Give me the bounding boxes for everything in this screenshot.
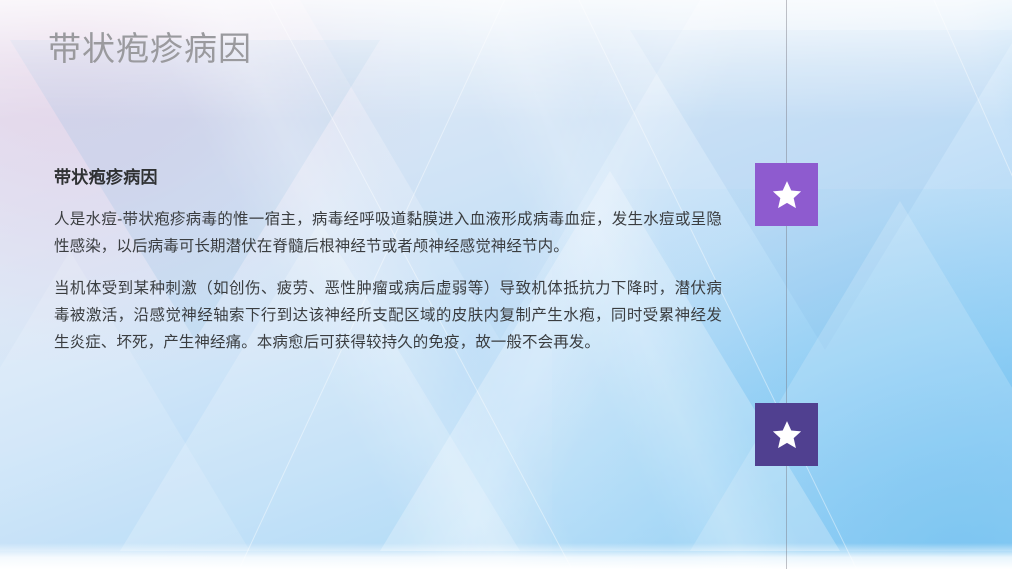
- slide: 带状疱疹病因 带状疱疹病因 人是水痘-带状疱疹病毒的惟一宿主，病毒经呼吸道黏膜进…: [0, 0, 1012, 569]
- star-badge-top: [755, 163, 818, 226]
- vertical-divider: [786, 0, 787, 569]
- content-block: 带状疱疹病因 人是水痘-带状疱疹病毒的惟一宿主，病毒经呼吸道黏膜进入血液形成病毒…: [54, 166, 722, 356]
- body-paragraph-1: 人是水痘-带状疱疹病毒的惟一宿主，病毒经呼吸道黏膜进入血液形成病毒血症，发生水痘…: [54, 206, 722, 260]
- star-icon: [771, 419, 803, 451]
- background-bottom-fade: [0, 543, 1012, 569]
- page-title: 带状疱疹病因: [48, 30, 252, 68]
- body-paragraph-2: 当机体受到某种刺激（如创伤、疲劳、恶性肿瘤或病后虚弱等）导致机体抵抗力下降时，潜…: [54, 275, 722, 356]
- section-heading: 带状疱疹病因: [54, 166, 722, 190]
- star-icon: [771, 179, 803, 211]
- star-badge-bottom: [755, 403, 818, 466]
